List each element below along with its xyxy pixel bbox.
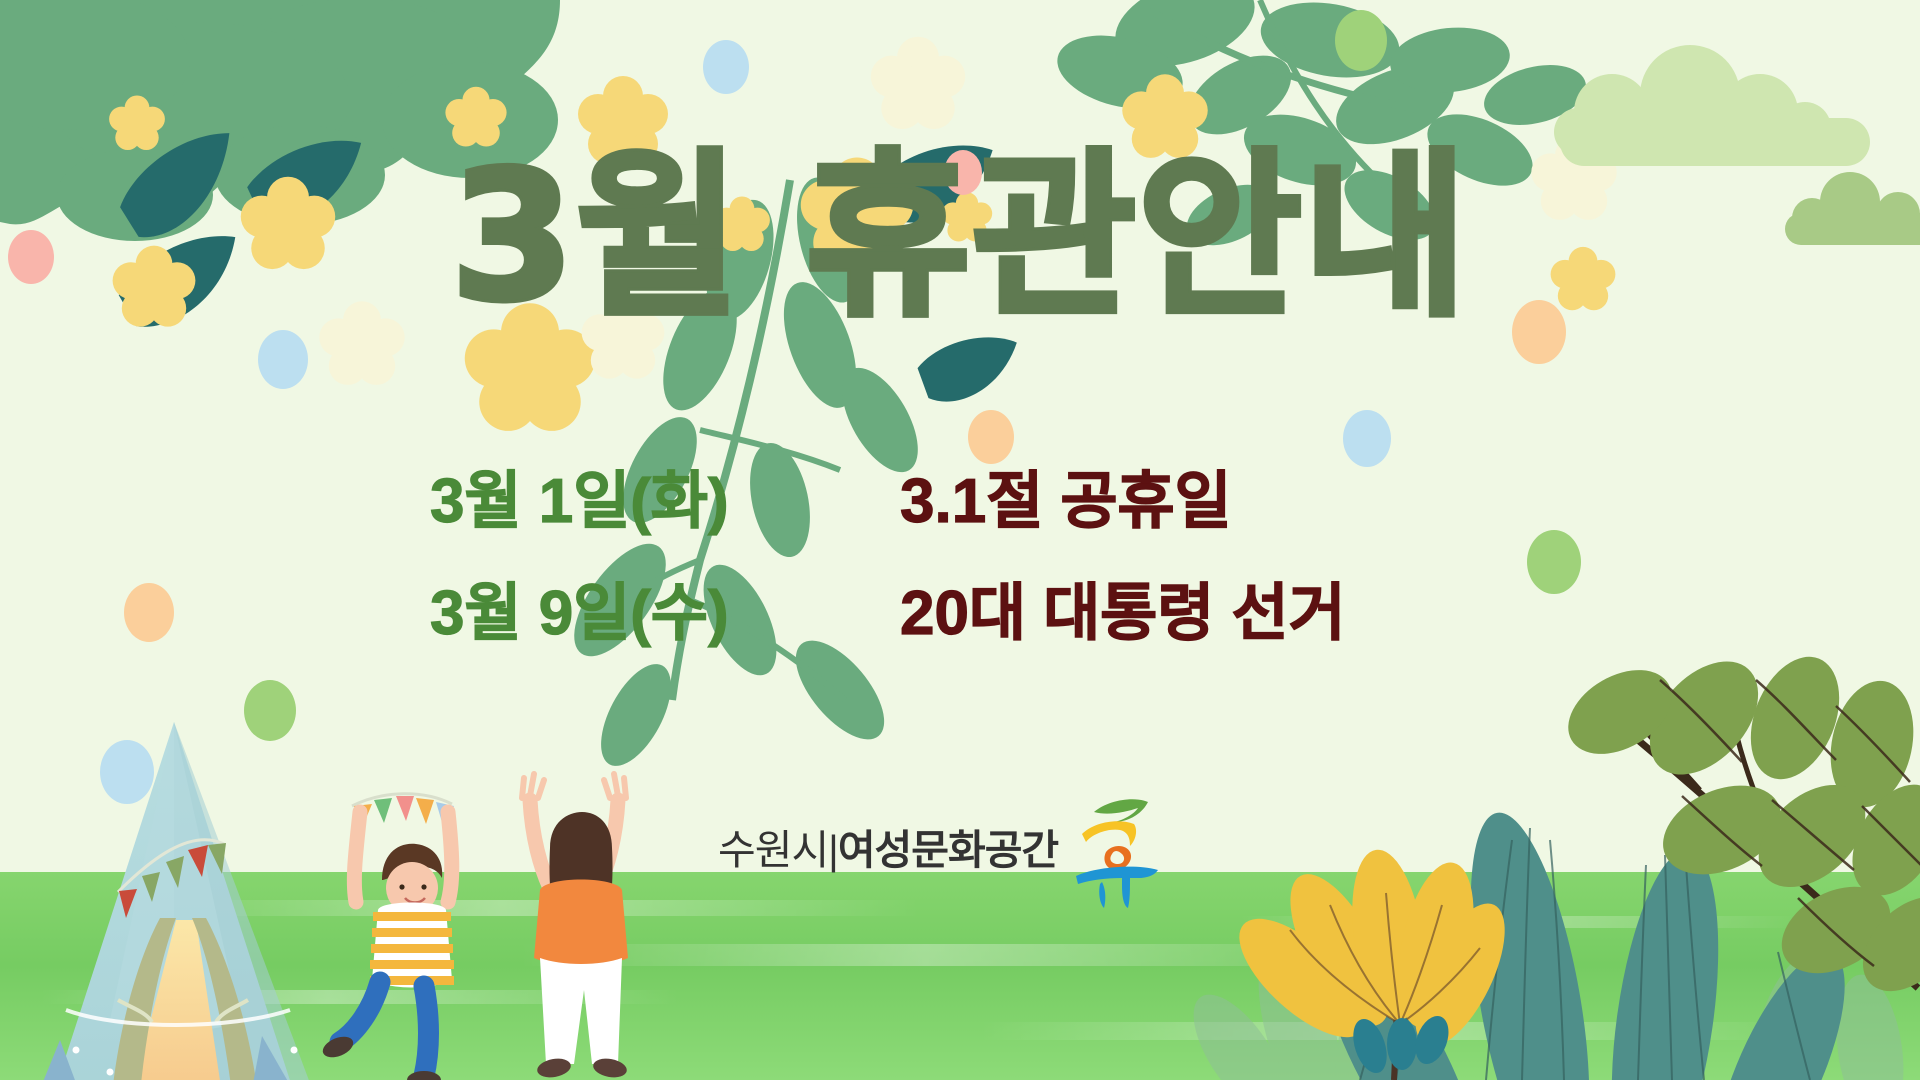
dot-green-top (1335, 10, 1387, 71)
boy-bunting-flags (354, 796, 454, 829)
notice-description: 3.1절 공휴일 (900, 465, 1232, 539)
notice-row: 3월 1일(화) 3.1절 공휴일 (430, 465, 1550, 539)
page-title: 3월 휴관안내 (0, 148, 1920, 326)
logo-city: 수원시 (718, 827, 828, 873)
notice-date: 3월 1일(화) (430, 465, 900, 539)
organization-logo: 수원시|여성문화공간 (718, 790, 1164, 910)
raised-hands (522, 774, 626, 798)
logo-name: 여성문화공간 (838, 827, 1058, 873)
notice-date: 3월 9일(수) (430, 577, 900, 651)
dot-blue-left (258, 330, 308, 389)
logo-divider: | (828, 827, 838, 873)
dot-blue-top (703, 40, 749, 94)
dot-blue-right (1343, 410, 1391, 467)
page-title-text: 3월 휴관안내 (451, 148, 1470, 326)
notice-description: 20대 대통령 선거 (900, 577, 1346, 651)
closure-notice-list: 3월 1일(화) 3.1절 공휴일 3월 9일(수) 20대 대통령 선거 (430, 465, 1550, 690)
dot-green-left (244, 680, 296, 741)
holiday-notice-poster: 3월 휴관안내 3월 1일(화) 3.1절 공휴일 3월 9일(수) 20대 대… (0, 0, 1920, 1080)
hyu-emblem-icon (1072, 790, 1164, 910)
dot-orange-center (968, 410, 1014, 464)
logo-wordmark: 수원시|여성문화공간 (718, 830, 1058, 871)
dot-blue-lower (100, 740, 154, 804)
dot-orange-far (124, 583, 174, 642)
notice-row: 3월 9일(수) 20대 대통령 선거 (430, 577, 1550, 651)
